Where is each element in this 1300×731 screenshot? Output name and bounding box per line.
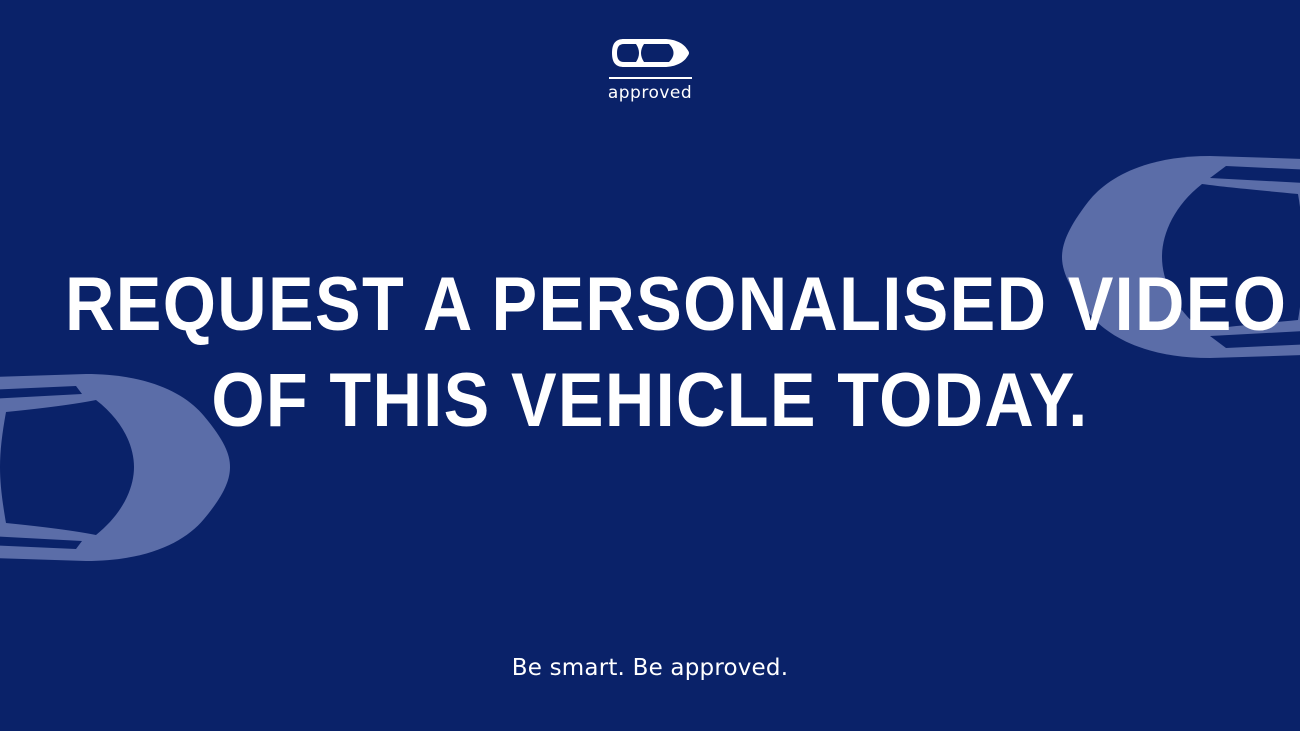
brand-logo: approved — [0, 36, 1300, 103]
logo-divider — [609, 77, 692, 79]
headline: REQUEST A PERSONALISED VIDEO OF THIS VEH… — [0, 268, 1300, 437]
tagline: Be smart. Be approved. — [0, 655, 1300, 681]
promo-slide: approved REQUEST A PERSONALISED VIDEO OF… — [0, 0, 1300, 731]
car-top-view-icon — [609, 36, 691, 70]
headline-line-1: REQUEST A PERSONALISED VIDEO — [65, 268, 1235, 342]
logo-wordmark: approved — [608, 84, 692, 103]
headline-line-2: OF THIS VEHICLE TODAY. — [65, 364, 1235, 438]
